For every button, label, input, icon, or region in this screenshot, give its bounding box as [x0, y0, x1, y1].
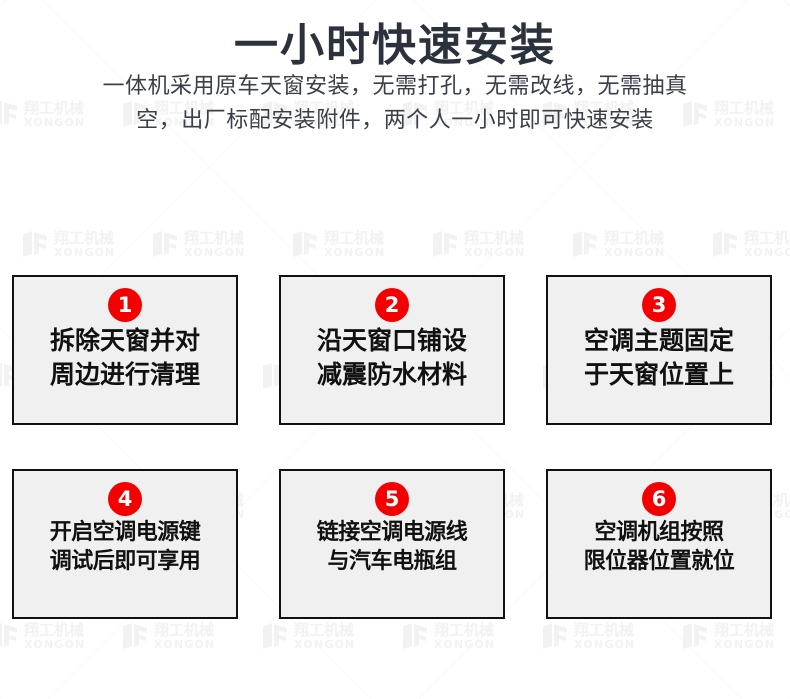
xongon-logo-icon: [152, 230, 179, 259]
step-number-badge: 3: [642, 288, 676, 322]
watermark-text: 翔工机械XONGON: [574, 623, 635, 650]
watermark-text: 翔工机械XONGON: [24, 623, 85, 650]
watermark-cn-text: 翔工机械: [574, 623, 635, 638]
step-description-line: 空调机组按照: [584, 518, 735, 547]
step-card-6[interactable]: 6空调机组按照限位器位置就位: [546, 469, 772, 619]
watermark-en-text: XONGON: [714, 639, 775, 650]
watermark-logo: 翔工机械XONGON: [572, 230, 665, 259]
step-description-line: 开启空调电源键: [50, 518, 201, 547]
watermark-cn-text: 翔工机械: [24, 623, 85, 638]
step-card-3[interactable]: 3空调主题固定于天窗位置上: [546, 275, 772, 425]
step-description: 空调主题固定于天窗位置上: [584, 324, 734, 391]
watermark-en-text: XONGON: [324, 247, 385, 258]
xongon-logo-icon: [682, 622, 709, 651]
watermark-en-text: XONGON: [294, 639, 355, 650]
page-subtitle: 一体机采用原车天窗安装，无需打孔，无需改线，无需抽真 空，出厂标配安装附件，两个…: [0, 70, 790, 138]
xongon-logo-icon: [432, 230, 459, 259]
watermark-cn-text: 翔工机械: [184, 231, 245, 246]
step-description-line: 空调主题固定: [584, 324, 734, 358]
step-card-5[interactable]: 5链接空调电源线与汽车电瓶组: [279, 469, 505, 619]
watermark-text: 翔工机械XONGON: [714, 623, 775, 650]
xongon-logo-icon: [262, 622, 289, 651]
watermark-en-text: XONGON: [24, 639, 85, 650]
step-description: 开启空调电源键调试后即可享用: [50, 518, 201, 577]
watermark-en-text: XONGON: [604, 247, 665, 258]
watermark-en-text: XONGON: [184, 247, 245, 258]
xongon-logo-icon: [572, 230, 599, 259]
watermark-en-text: XONGON: [464, 247, 525, 258]
subtitle-line-2: 空，出厂标配安装附件，两个人一小时即可快速安装: [48, 104, 742, 138]
watermark-en-text: XONGON: [574, 639, 635, 650]
step-description-line: 拆除天窗并对: [50, 324, 200, 358]
step-description-line: 与汽车电瓶组: [317, 547, 468, 576]
xongon-logo-icon: [22, 230, 49, 259]
watermark-logo: 翔工机械XONGON: [542, 622, 635, 651]
watermark-cn-text: 翔工机械: [604, 231, 665, 246]
xongon-logo-icon: [122, 622, 149, 651]
watermark-cn-text: 翔工机械: [54, 231, 115, 246]
watermark-cn-text: 翔工机械: [464, 231, 525, 246]
watermark-text: 翔工机械XONGON: [184, 231, 245, 258]
xongon-logo-icon: [0, 622, 19, 651]
watermark-cn-text: 翔工机械: [714, 623, 775, 638]
step-number-badge: 5: [375, 482, 409, 516]
watermark-text: 翔工机械XONGON: [54, 231, 115, 258]
watermark-logo: 翔工机械XONGON: [122, 622, 215, 651]
watermark-en-text: XONGON: [434, 639, 495, 650]
xongon-logo-icon: [542, 622, 569, 651]
watermark-en-text: XONGON: [154, 639, 215, 650]
watermark-cn-text: 翔工机械: [744, 231, 790, 246]
watermark-logo: 翔工机械XONGON: [292, 230, 385, 259]
watermark-cn-text: 翔工机械: [324, 231, 385, 246]
page-title: 一小时快速安装: [0, 0, 790, 70]
watermark-en-text: XONGON: [744, 247, 790, 258]
watermark-cn-text: 翔工机械: [434, 623, 495, 638]
step-number-badge: 1: [108, 288, 142, 322]
step-description-line: 限位器位置就位: [584, 547, 735, 576]
watermark-logo: 翔工机械XONGON: [682, 622, 775, 651]
step-description: 拆除天窗并对周边进行清理: [50, 324, 200, 391]
step-description-line: 沿天窗口铺设: [317, 324, 467, 358]
watermark-logo: 翔工机械XONGON: [432, 230, 525, 259]
watermark-text: 翔工机械XONGON: [604, 231, 665, 258]
watermark-en-text: XONGON: [54, 247, 115, 258]
step-description: 链接空调电源线与汽车电瓶组: [317, 518, 468, 577]
step-number-badge: 2: [375, 288, 409, 322]
step-number-badge: 4: [108, 482, 142, 516]
watermark-logo: 翔工机械XONGON: [262, 622, 355, 651]
xongon-logo-icon: [402, 622, 429, 651]
watermark-logo: 翔工机械XONGON: [712, 230, 790, 259]
installation-steps-grid: 1拆除天窗并对周边进行清理2沿天窗口铺设减震防水材料3空调主题固定于天窗位置上4…: [12, 275, 772, 619]
watermark-logo: 翔工机械XONGON: [0, 622, 85, 651]
watermark-text: 翔工机械XONGON: [324, 231, 385, 258]
step-description-line: 于天窗位置上: [584, 358, 734, 392]
watermark-logo: 翔工机械XONGON: [22, 230, 115, 259]
xongon-logo-icon: [292, 230, 319, 259]
step-card-1[interactable]: 1拆除天窗并对周边进行清理: [12, 275, 238, 425]
watermark-text: 翔工机械XONGON: [464, 231, 525, 258]
page-content: 一小时快速安装 一体机采用原车天窗安装，无需打孔，无需改线，无需抽真 空，出厂标…: [0, 0, 790, 139]
watermark-text: 翔工机械XONGON: [154, 623, 215, 650]
watermark-text: 翔工机械XONGON: [294, 623, 355, 650]
step-description-line: 减震防水材料: [317, 358, 467, 392]
step-description: 沿天窗口铺设减震防水材料: [317, 324, 467, 391]
step-description: 空调机组按照限位器位置就位: [584, 518, 735, 577]
watermark-logo: 翔工机械XONGON: [402, 622, 495, 651]
watermark-text: 翔工机械XONGON: [434, 623, 495, 650]
step-description-line: 链接空调电源线: [317, 518, 468, 547]
xongon-logo-icon: [712, 230, 739, 259]
step-description-line: 周边进行清理: [50, 358, 200, 392]
watermark-cn-text: 翔工机械: [154, 623, 215, 638]
watermark-cn-text: 翔工机械: [294, 623, 355, 638]
step-description-line: 调试后即可享用: [50, 547, 201, 576]
step-card-4[interactable]: 4开启空调电源键调试后即可享用: [12, 469, 238, 619]
watermark-text: 翔工机械XONGON: [744, 231, 790, 258]
step-number-badge: 6: [642, 482, 676, 516]
subtitle-line-1: 一体机采用原车天窗安装，无需打孔，无需改线，无需抽真: [48, 70, 742, 104]
step-card-2[interactable]: 2沿天窗口铺设减震防水材料: [279, 275, 505, 425]
watermark-logo: 翔工机械XONGON: [152, 230, 245, 259]
